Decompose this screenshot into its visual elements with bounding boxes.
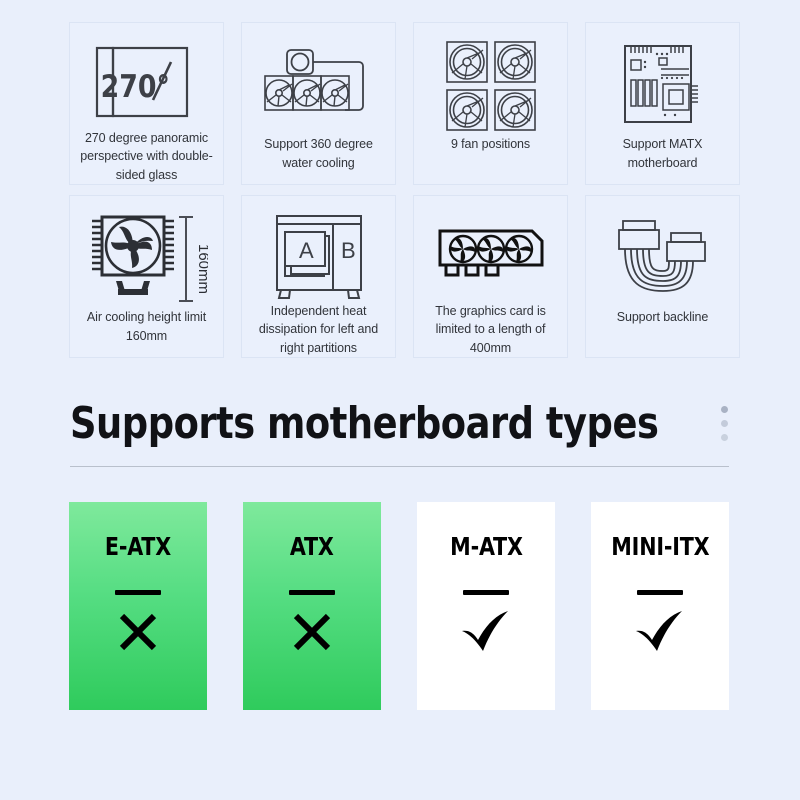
water-cooling-icon <box>242 37 395 135</box>
cross-icon <box>111 605 165 659</box>
chamber-a-label: A <box>299 238 314 263</box>
motherboard-card-e-atx[interactable]: E-ATX <box>69 502 207 710</box>
feature-label: Independent heat dissipation for left an… <box>242 302 395 358</box>
feature-card-air-cooling[interactable]: 160mm Air cooling height limit 160mm <box>69 195 224 358</box>
graphics-card-icon <box>414 210 567 302</box>
feature-card-motherboard[interactable]: Support MATX motherboard <box>585 22 740 185</box>
page-title: Supports motherboard types <box>70 398 658 449</box>
dual-chamber-case-icon: A B <box>242 210 395 302</box>
fan-grid-icon <box>414 37 567 135</box>
feature-card-water-cooling[interactable]: Support 360 degree water cooling <box>241 22 396 185</box>
feature-card-panoramic-glass[interactable]: 270° 270 degree panoramic perspective wi… <box>69 22 224 185</box>
feature-label: Support MATX motherboard <box>586 135 739 172</box>
cross-icon <box>285 605 339 659</box>
check-icon <box>633 605 687 659</box>
feature-card-fan-positions[interactable]: 9 fan positions <box>413 22 568 185</box>
chamber-b-label: B <box>341 238 356 263</box>
dot-3 <box>721 434 728 441</box>
vertical-dots-icon[interactable] <box>721 406 730 441</box>
dimension-text: 160mm <box>195 244 208 294</box>
check-icon <box>459 605 513 659</box>
feature-label: Support 360 degree water cooling <box>242 135 395 172</box>
section-divider <box>70 466 729 467</box>
motherboard-type-label: ATX <box>290 532 334 561</box>
panoramic-glass-icon: 270° <box>70 37 223 129</box>
motherboard-type-label: MINI-ITX <box>611 532 709 561</box>
dot-2 <box>721 420 728 427</box>
feature-label: The graphics card is limited to a length… <box>414 302 567 358</box>
feature-card-backline[interactable]: Support backline <box>585 195 740 358</box>
divider-bar <box>115 590 161 595</box>
dot-1 <box>721 406 728 413</box>
motherboard-card-atx[interactable]: ATX <box>243 502 381 710</box>
motherboard-icon <box>586 37 739 135</box>
section-header: Supports motherboard types <box>70 392 730 454</box>
motherboard-type-label: E-ATX <box>105 532 171 561</box>
divider-bar <box>463 590 509 595</box>
feature-label: 9 fan positions <box>443 135 538 154</box>
feature-card-graphics-card[interactable]: The graphics card is limited to a length… <box>413 195 568 358</box>
air-cooler-icon: 160mm <box>70 210 223 308</box>
divider-bar <box>289 590 335 595</box>
motherboard-card-mini-itx[interactable]: MINI-ITX <box>591 502 729 710</box>
motherboard-card-m-atx[interactable]: M-ATX <box>417 502 555 710</box>
motherboard-type-label: M-ATX <box>450 532 523 561</box>
motherboard-type-row: E-ATX ATX M-ATX MINI-ITX <box>69 502 729 710</box>
feature-label: 270 degree panoramic perspective with do… <box>70 129 223 185</box>
feature-label: Air cooling height limit 160mm <box>70 308 223 345</box>
divider-bar <box>637 590 683 595</box>
feature-card-dual-chamber[interactable]: A B Independent heat dissipation for lef… <box>241 195 396 358</box>
svg-text:270°: 270° <box>100 69 169 105</box>
feature-grid: 270° 270 degree panoramic perspective wi… <box>69 22 731 358</box>
feature-label: Support backline <box>609 308 717 327</box>
backline-cable-icon <box>586 210 739 308</box>
